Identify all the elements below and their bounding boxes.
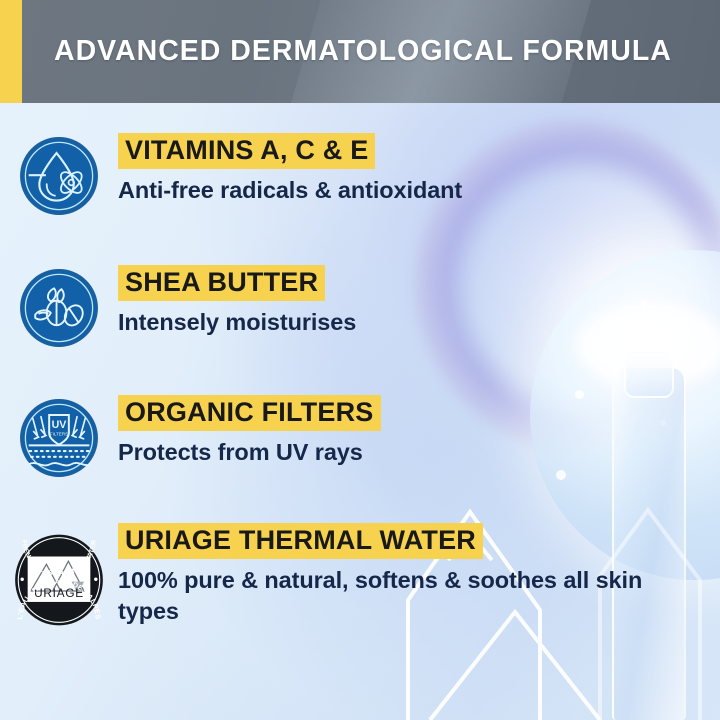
feature-text-block: URIAGE THERMAL WATER 100% pure & natural… [118,521,720,626]
feature-row-uriage-thermal-water: URIAGE L'EAU THERMALE DES ALPES FRENCH A… [0,521,720,627]
feature-title: VITAMINS A, C & E [118,133,375,169]
feature-title: ORGANIC FILTERS [118,395,381,431]
feature-row-organic-filters: UV FILTERS ORGA [0,393,720,479]
header-banner: ADVANCED DERMATOLOGICAL FORMULA [0,0,720,103]
shea-nut-icon [18,267,100,349]
feature-subtitle: Intensely moisturises [118,307,648,338]
feature-icon-slot [0,263,118,349]
feature-text-block: ORGANIC FILTERS Protects from UV rays [118,393,720,468]
feature-icon-slot: UV FILTERS [0,393,118,479]
feature-text-block: SHEA BUTTER Intensely moisturises [118,263,720,338]
water-drop-antioxidant-icon [18,135,100,217]
uv-filter-shield-icon: UV FILTERS [18,397,100,479]
feature-subtitle: 100% pure & natural, softens & soothes a… [118,565,658,626]
feature-row-shea-butter: SHEA BUTTER Intensely moisturises [0,263,720,349]
feature-icon-slot [0,131,118,217]
feature-subtitle: Anti-free radicals & antioxidant [118,175,648,206]
uv-shield-sublabel: FILTERS [50,432,68,437]
feature-title: SHEA BUTTER [118,265,325,301]
feature-title: URIAGE THERMAL WATER [118,523,483,559]
feature-icon-slot: URIAGE L'EAU THERMALE DES ALPES FRENCH A… [0,521,118,627]
header-accent-bar [0,0,22,103]
infographic-page: ADVANCED DERMATOLOGICAL FORMULA [0,0,720,720]
feature-row-vitamins: VITAMINS A, C & E Anti-free radicals & a… [0,131,720,217]
uriage-logo-icon: URIAGE L'EAU THERMALE DES ALPES FRENCH A… [12,533,106,627]
feature-text-block: VITAMINS A, C & E Anti-free radicals & a… [118,131,720,206]
uv-shield-label: UV [52,419,68,431]
feature-subtitle: Protects from UV rays [118,437,648,468]
page-title: ADVANCED DERMATOLOGICAL FORMULA [54,0,672,103]
